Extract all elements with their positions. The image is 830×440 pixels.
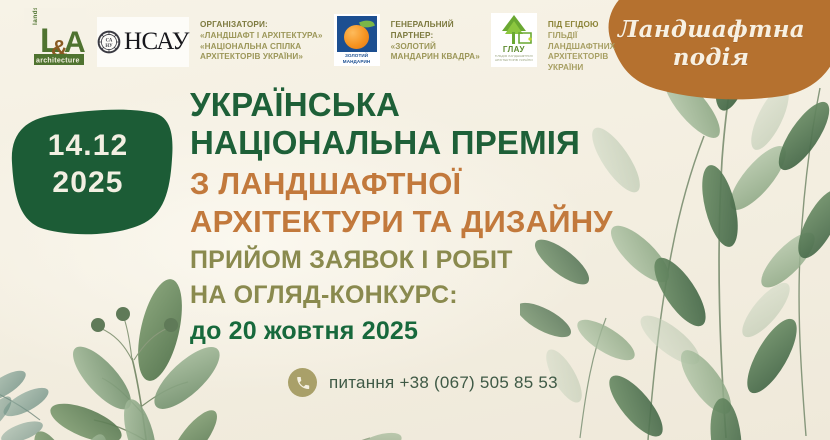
logo-bottom-word: architecture [36,58,80,65]
nsau-seal-icon: СА НУ [97,27,121,57]
mandarin-caption-2: МАНДАРИН [343,59,371,64]
nsau-logo: СА НУ НСАУ [97,17,189,67]
general-partner-line-2: МАНДАРИН КВАДРА» [391,52,480,63]
organizers-line-1: «ЛАНДШАФТ І АРХІТЕКТУРА» [200,31,323,42]
headline-block: УКРАЇНСЬКА НАЦІОНАЛЬНА ПРЕМІЯ З ЛАНДШАФТ… [190,86,690,346]
hlau-wordmark: ГЛАУ [503,45,525,54]
promotional-banner: Ландшафтна подія 14.12 2025 landscape L … [0,0,830,440]
svg-text:НУ: НУ [105,44,113,49]
organizers-credit: ОРГАНІЗАТОРИ: «ЛАНДШАФТ І АРХІТЕКТУРА» «… [200,20,323,63]
contact-phone-label: питання +38 (067) 505 85 53 [329,373,558,393]
golden-mandarin-logo: ЗОЛОТИЙ МАНДАРИН [334,14,380,66]
script-badge-line1: Ландшафтна [618,16,804,44]
organizers-line-2: «НАЦІОНАЛЬНА СПІЛКА [200,42,323,53]
headline-line-4: АРХІТЕКТУРИ ТА ДИЗАЙНУ [190,204,690,240]
nsau-wordmark: НСАУ [124,28,189,56]
auspices-credit: ПІД ЕГІДОЮ ГІЛЬДІЇ ЛАНДШАФТНИХ АРХІТЕКТО… [548,20,615,74]
auspices-line-2: ЛАНДШАФТНИХ [548,42,615,53]
event-date-year: 2025 [8,165,168,202]
organizers-line-3: АРХІТЕКТОРІВ УКРАЇНИ» [200,52,323,63]
general-partner-title-2: ПАРТНЕР: [391,31,480,42]
event-date: 14.12 2025 [8,128,168,201]
submission-deadline: до 20 жовтня 2025 [190,316,690,346]
event-date-day: 14.12 [8,128,168,165]
landscape-architecture-logo: landscape L & A architecture [24,8,86,70]
general-partner-title-1: ГЕНЕРАЛЬНИЙ [391,20,480,31]
general-partner-line-1: «ЗОЛОТИЙ [391,42,480,53]
hlau-subline-2: АРХІТЕКТОРІВ УКРАЇНИ [495,59,533,62]
general-partner-credit: ГЕНЕРАЛЬНИЙ ПАРТНЕР: «ЗОЛОТИЙ МАНДАРИН К… [391,20,480,63]
mandarin-caption-1: ЗОЛОТИЙ [345,53,368,58]
hlau-logo: ГЛАУ ГІЛЬДІЯ ЛАНДШАФТНИХ АРХІТЕКТОРІВ УК… [491,13,537,67]
header-logo-strip: landscape L & A architecture СА Н [24,8,615,74]
headline-line-1: УКРАЇНСЬКА [190,86,690,124]
logo-vertical-word: landscape [32,8,39,25]
headline-line-2: НАЦІОНАЛЬНА ПРЕМІЯ [190,124,690,162]
script-badge-text: Ландшафтна подія [618,16,804,72]
headline-line-6: НА ОГЛЯД-КОНКУРС: [190,280,690,310]
svg-text:СА: СА [106,39,113,44]
auspices-title: ПІД ЕГІДОЮ [548,20,615,31]
auspices-line-3: АРХІТЕКТОРІВ [548,52,615,63]
auspices-line-4: УКРАЇНИ [548,63,615,74]
phone-icon [288,368,317,397]
organizers-title: ОРГАНІЗАТОРИ: [200,20,323,31]
mandarin-emblem-icon [337,16,377,52]
hlau-tree-house-icon [493,13,535,47]
contact-row[interactable]: питання +38 (067) 505 85 53 [288,368,558,397]
auspices-line-1: ГІЛЬДІЇ [548,31,615,42]
headline-line-5: ПРИЙОМ ЗАЯВОК І РОБІТ [190,245,690,275]
headline-line-3: З ЛАНДШАФТНОЇ [190,166,690,202]
script-badge-line2: подія [618,44,804,72]
